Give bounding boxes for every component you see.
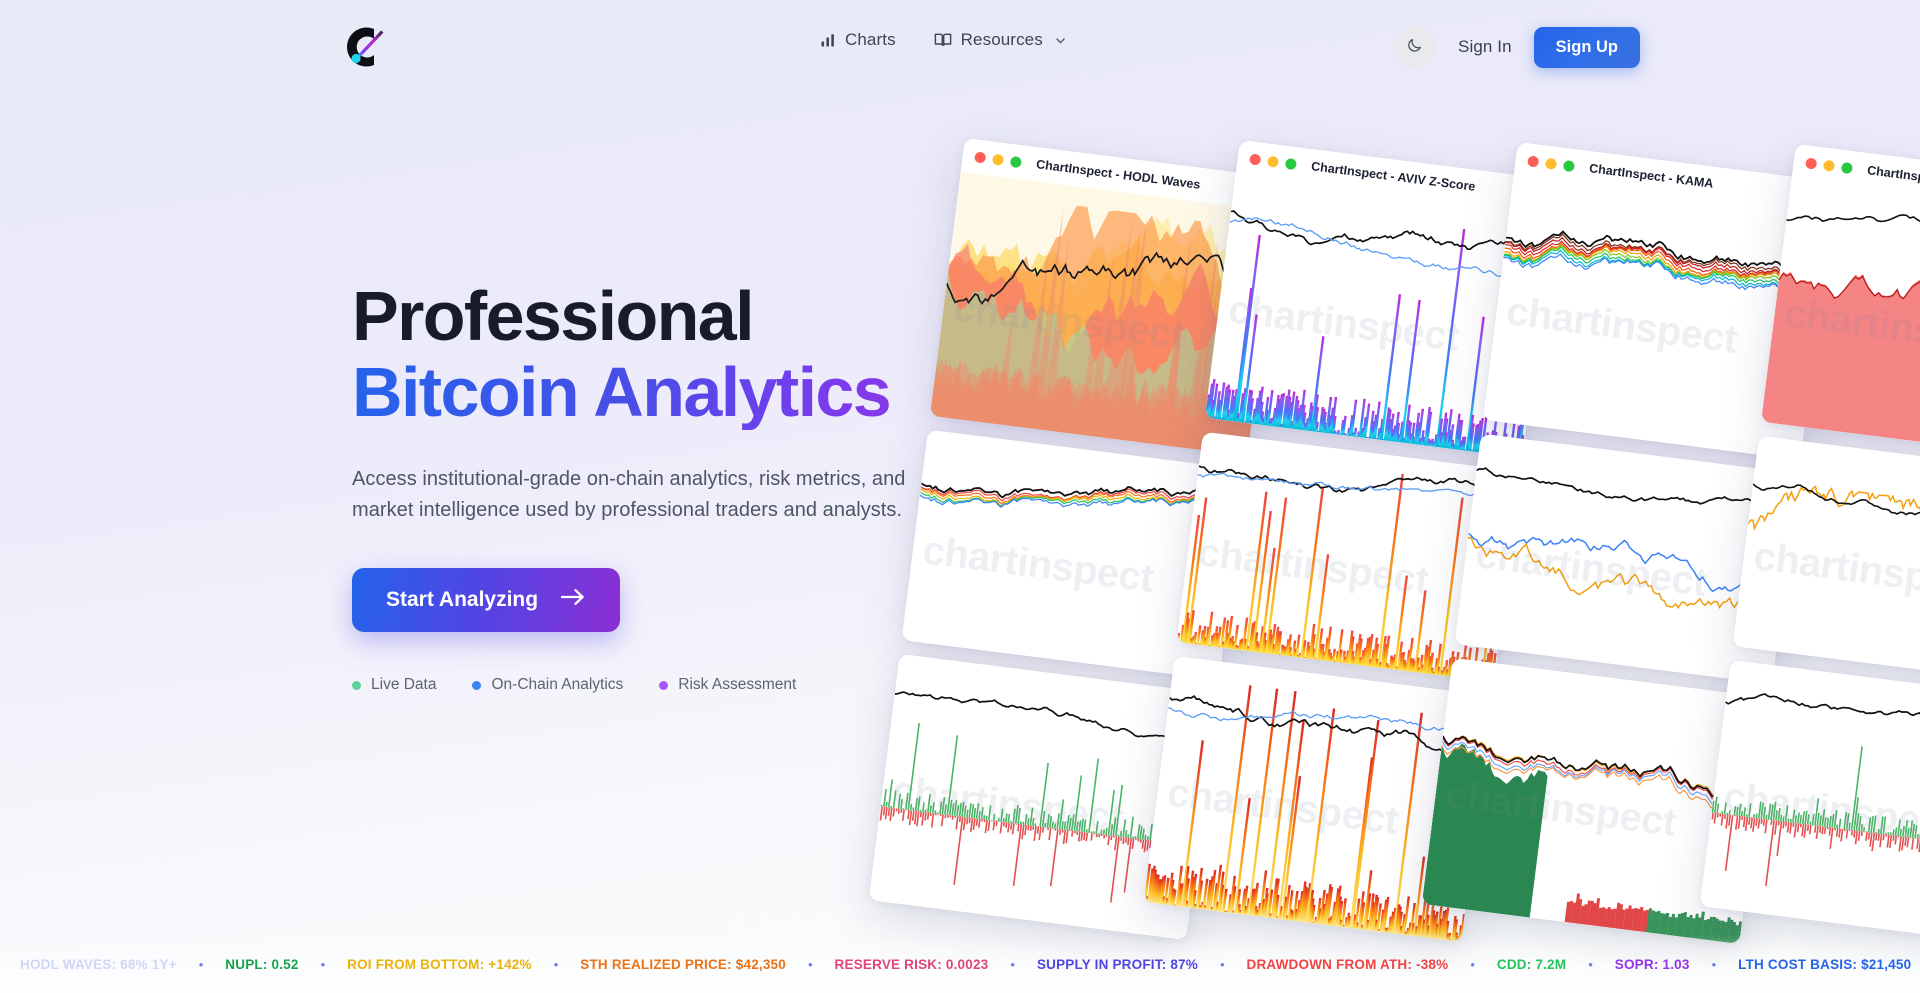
feature-risk-assessment-label: Risk Assessment: [678, 676, 796, 694]
chart-panel: chartinspect: [1700, 660, 1920, 946]
feature-onchain-analytics: On-Chain Analytics: [472, 676, 623, 694]
ticker-item: SOPR: 1.03: [1615, 957, 1690, 972]
hero-title-line1: Professional: [352, 278, 1032, 354]
book-icon: [934, 32, 952, 48]
start-analyzing-button[interactable]: Start Analyzing: [352, 568, 620, 632]
status-dot: [352, 681, 361, 690]
ticker-track: HODL WAVES: 68% 1Y+•NUPL: 0.52•ROI FROM …: [0, 957, 1920, 972]
ticker-separator: •: [1220, 957, 1225, 972]
ticker-separator: •: [1588, 957, 1593, 972]
hero-subtitle: Access institutional-grade on-chain anal…: [352, 464, 962, 526]
traffic-light-maximize-icon[interactable]: [1841, 161, 1853, 173]
metrics-ticker: HODL WAVES: 68% 1Y+•NUPL: 0.52•ROI FROM …: [0, 935, 1920, 993]
theme-toggle-button[interactable]: [1394, 26, 1436, 68]
chevron-down-icon: [1054, 34, 1067, 47]
ticker-separator: •: [1010, 957, 1015, 972]
traffic-light-close-icon[interactable]: [974, 151, 986, 163]
feature-list: Live Data On-Chain Analytics Risk Assess…: [352, 676, 1032, 694]
ticker-item: CDD: 7.2M: [1497, 957, 1566, 972]
chart-window-card[interactable]: chartinspect: [1733, 436, 1920, 686]
hero-section: Professional Bitcoin Analytics Access in…: [352, 278, 1032, 694]
feature-onchain-analytics-label: On-Chain Analytics: [491, 676, 623, 694]
ticker-separator: •: [199, 957, 204, 972]
moon-icon: [1406, 36, 1424, 59]
status-dot: [472, 681, 481, 690]
traffic-light-maximize-icon[interactable]: [1563, 159, 1575, 171]
feature-live-data: Live Data: [352, 676, 436, 694]
chartinspect-logo[interactable]: [330, 12, 400, 82]
traffic-light-minimize-icon[interactable]: [1545, 157, 1557, 169]
site-header: Charts Resources: [0, 0, 1920, 96]
ticker-separator: •: [554, 957, 559, 972]
traffic-light-minimize-icon[interactable]: [992, 153, 1004, 165]
ticker-item: HODL WAVES: 68% 1Y+: [20, 957, 177, 972]
ticker-item: DRAWDOWN FROM ATH: -38%: [1247, 957, 1449, 972]
ticker-item: NUPL: 0.52: [225, 957, 298, 972]
feature-risk-assessment: Risk Assessment: [659, 676, 796, 694]
traffic-light-close-icon[interactable]: [1249, 153, 1261, 165]
nav-item-resources-label: Resources: [961, 30, 1043, 50]
header-actions: Sign In Sign Up: [1394, 26, 1640, 68]
hero-title-line2: Bitcoin Analytics: [352, 354, 1032, 430]
traffic-light-maximize-icon[interactable]: [1285, 157, 1297, 169]
logo-icon: [330, 12, 400, 82]
start-analyzing-label: Start Analyzing: [386, 588, 538, 612]
sign-in-link[interactable]: Sign In: [1458, 37, 1512, 57]
ticker-separator: •: [1470, 957, 1475, 972]
traffic-light-minimize-icon[interactable]: [1823, 159, 1835, 171]
traffic-light-maximize-icon[interactable]: [1010, 155, 1022, 167]
traffic-light-close-icon[interactable]: [1805, 157, 1817, 169]
ticker-item: STH REALIZED PRICE: $42,350: [580, 957, 786, 972]
traffic-light-minimize-icon[interactable]: [1267, 155, 1279, 167]
chart-window-card[interactable]: chartinspect: [1700, 660, 1920, 946]
traffic-light-close-icon[interactable]: [1527, 155, 1539, 167]
chart-showcase: ChartInspect - HODL Waveschartinspectcha…: [940, 0, 1920, 900]
ticker-item: ROI FROM BOTTOM: +142%: [347, 957, 532, 972]
bar-chart-icon: [820, 32, 836, 48]
ticker-separator: •: [808, 957, 813, 972]
chart-panel: chartinspect: [1733, 436, 1920, 686]
nav-item-charts-label: Charts: [845, 30, 896, 50]
ticker-item: SUPPLY IN PROFIT: 87%: [1037, 957, 1198, 972]
status-dot: [659, 681, 668, 690]
nav-item-resources[interactable]: Resources: [934, 30, 1067, 50]
feature-live-data-label: Live Data: [371, 676, 436, 694]
ticker-item: RESERVE RISK: 0.0023: [835, 957, 989, 972]
main-nav: Charts Resources: [820, 30, 1067, 50]
window-title: ChartInspect - KAMA: [1588, 161, 1714, 191]
sign-up-button[interactable]: Sign Up: [1534, 27, 1640, 68]
ticker-item: LTH COST BASIS: $21,450: [1738, 957, 1911, 972]
window-title: ChartInspect -: [1866, 163, 1920, 187]
arrow-right-icon: [560, 587, 586, 613]
ticker-separator: •: [1712, 957, 1717, 972]
nav-item-charts[interactable]: Charts: [820, 30, 896, 50]
ticker-separator: •: [321, 957, 326, 972]
